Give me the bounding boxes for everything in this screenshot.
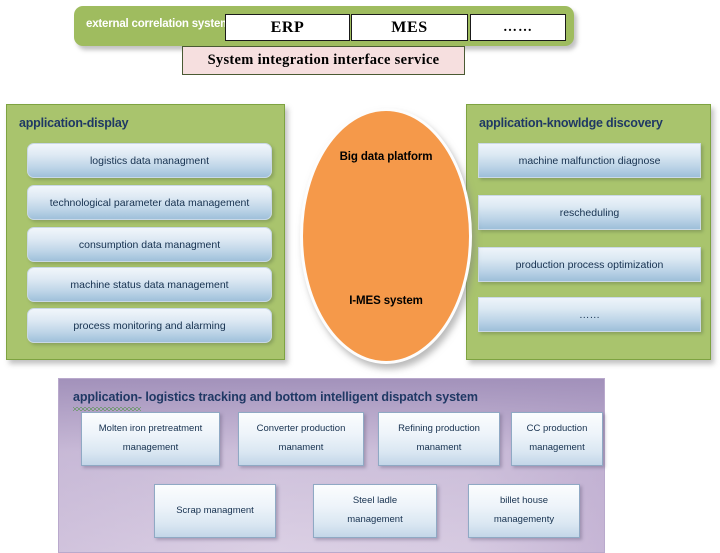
logistics-item-line2: manament: [279, 439, 324, 458]
logistics-item-refining-production-manament[interactable]: Refining production manament: [378, 412, 500, 466]
logistics-item-scrap-managment[interactable]: Scrap managment: [154, 484, 276, 538]
big-data-platform-label: Big data platform: [303, 151, 469, 163]
external-system-box-mes[interactable]: MES: [351, 14, 468, 41]
logistics-item-billet-house-managementy[interactable]: billet house managementy: [468, 484, 580, 538]
diagram-canvas: external correlation system ERP MES …… S…: [0, 0, 720, 551]
knowledge-item-machine-malfunction-diagnose[interactable]: machine malfunction diagnose: [478, 143, 701, 178]
logistics-item-line1: Converter production: [257, 420, 346, 439]
knowledge-item-rescheduling[interactable]: rescheduling: [478, 195, 701, 230]
panel-display-title: application-display: [19, 116, 128, 130]
display-item-process-monitoring-and-alarming[interactable]: process monitoring and alarming: [27, 308, 272, 343]
logistics-item-cc-production-management[interactable]: CC production management: [511, 412, 603, 466]
logistics-item-line2: management: [529, 439, 584, 458]
panel-application-knowledge-discovery: application-knowldge discovery machine m…: [466, 104, 711, 360]
knowledge-item-more[interactable]: ……: [478, 297, 701, 332]
logistics-item-line2: managementy: [494, 511, 554, 530]
system-integration-interface-service-bar: System integration interface service: [182, 46, 465, 75]
external-correlation-system-label: external correlation system: [86, 18, 246, 30]
display-item-logistics-data-managment[interactable]: logistics data managment: [27, 143, 272, 178]
display-item-machine-status-data-management[interactable]: machine status data management: [27, 267, 272, 302]
i-mes-system-label: I-MES system: [303, 295, 469, 307]
external-correlation-system-bar: external correlation system ERP MES ……: [74, 6, 574, 46]
logistics-item-molten-iron-pretreatment-management[interactable]: Molten iron pretreatment management: [81, 412, 220, 466]
panel-knowledge-title: application-knowldge discovery: [479, 116, 663, 130]
knowledge-item-production-process-optimization[interactable]: production process optimization: [478, 247, 701, 282]
logistics-item-converter-production-manament[interactable]: Converter production manament: [238, 412, 364, 466]
logistics-item-line1: Scrap managment: [176, 502, 254, 521]
logistics-item-steel-ladle-management[interactable]: Steel ladle management: [313, 484, 437, 538]
logistics-item-line1: billet house: [500, 492, 548, 511]
display-item-consumption-data-managment[interactable]: consumption data managment: [27, 227, 272, 262]
big-data-platform-ellipse: Big data platform I-MES system: [300, 108, 472, 364]
logistics-item-line1: Steel ladle: [353, 492, 397, 511]
logistics-item-line2: management: [347, 511, 402, 530]
logistics-item-line2: manament: [417, 439, 462, 458]
logistics-item-line1: Molten iron pretreatment: [99, 420, 203, 439]
external-system-box-more[interactable]: ……: [470, 14, 566, 41]
external-system-box-erp[interactable]: ERP: [225, 14, 350, 41]
logistics-item-line1: CC production: [527, 420, 588, 439]
panel-application-logistics-tracking: application- logistics tracking and bott…: [58, 378, 605, 553]
spellcheck-squiggle-underline: [73, 407, 141, 411]
panel-logistics-title: application- logistics tracking and bott…: [73, 390, 478, 404]
display-item-technological-parameter-data-management[interactable]: technological parameter data management: [27, 185, 272, 220]
logistics-item-line1: Refining production: [398, 420, 480, 439]
logistics-item-line2: management: [123, 439, 178, 458]
panel-application-display: application-display logistics data manag…: [6, 104, 285, 360]
